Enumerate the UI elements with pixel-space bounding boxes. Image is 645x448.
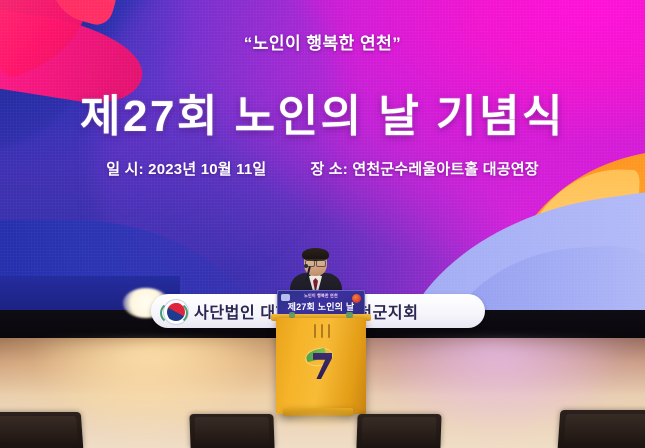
screen-date-label: 일 시: 2023년 10월 11일 — [106, 158, 266, 179]
screen-place-label: 장 소: 연천군수레울아트홀 대공연장 — [310, 158, 538, 179]
podium-sign-subtitle: 노인이 행복한 연천 — [278, 293, 364, 299]
stage-chair — [0, 412, 83, 448]
screen-subtitle: “노인이 행복한 연천” — [0, 29, 645, 54]
lectern-glow — [276, 414, 364, 430]
screen-meta-row: 일 시: 2023년 10월 11일 장 소: 연천군수레울아트홀 대공연장 — [0, 158, 645, 179]
lectern — [276, 318, 366, 414]
stage-chair — [189, 414, 274, 448]
glasses-icon — [305, 259, 326, 265]
event-photo: “노인이 행복한 연천” 제27회 노인의 날 기념식 일 시: 2023년 1… — [0, 0, 645, 448]
screen-title: 제27회 노인의 날 기념식 — [0, 80, 645, 144]
yeoncheon-county-logo-icon — [302, 348, 340, 382]
stage-chair — [356, 414, 441, 448]
leaf-ring-icon — [160, 301, 188, 325]
stage-chair — [558, 410, 645, 448]
microphone-icon — [304, 264, 308, 268]
lectern-vent-slits — [314, 324, 330, 338]
